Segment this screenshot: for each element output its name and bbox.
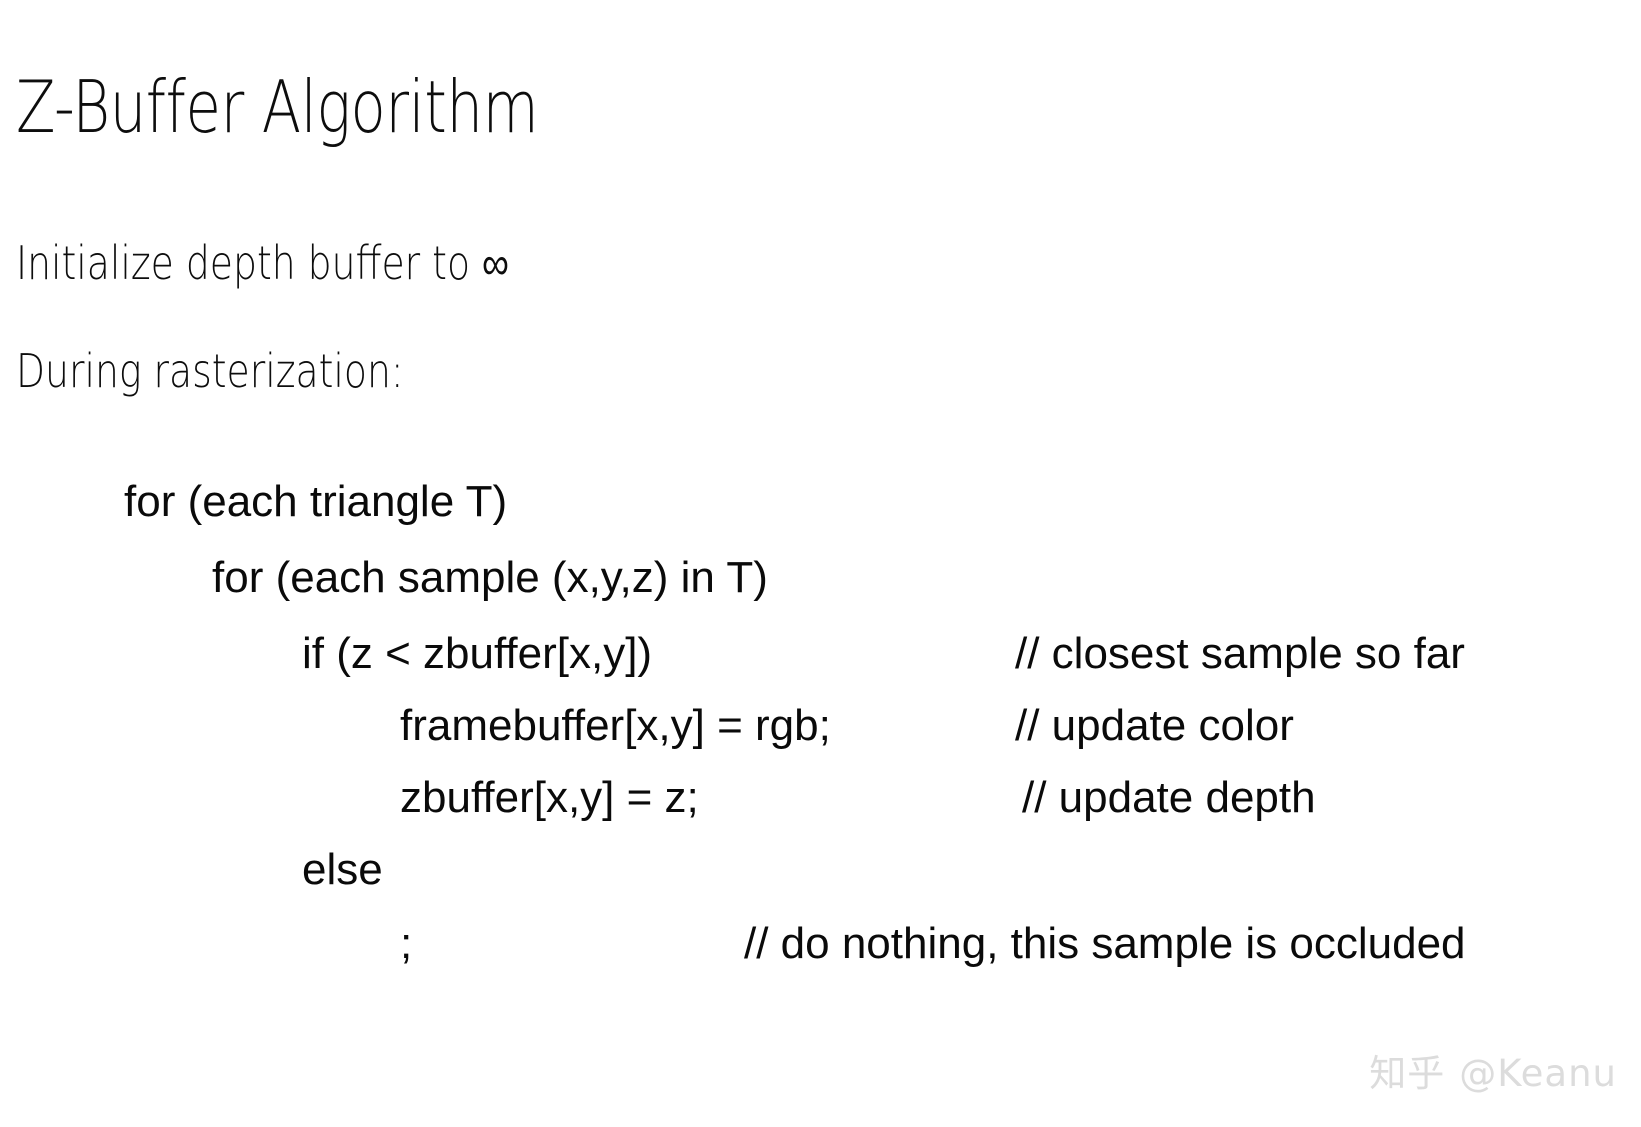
slide-canvas: Z-Buffer Algorithm Initialize depth buff… xyxy=(0,0,1641,1127)
code-line-text: if (z < zbuffer[x,y]) xyxy=(302,622,652,686)
code-line-text: else xyxy=(302,838,383,902)
code-line-text: for (each triangle T) xyxy=(124,470,507,534)
code-line-text: framebuffer[x,y] = rgb; xyxy=(400,694,831,758)
body-line-during-rasterization: During rasterization: xyxy=(16,346,404,397)
zhihu-logo-text: 知乎 xyxy=(1369,1052,1445,1095)
code-line-comment: // closest sample so far xyxy=(1015,622,1465,686)
code-line-text: zbuffer[x,y] = z; xyxy=(400,766,699,830)
watermark-handle: @Keanu xyxy=(1459,1052,1617,1095)
body-line-initialize: Initialize depth buffer to ∞ xyxy=(16,238,509,289)
code-line-text: for (each sample (x,y,z) in T) xyxy=(212,546,768,610)
code-line-comment: // do nothing, this sample is occluded xyxy=(744,912,1466,976)
code-line-comment: // update depth xyxy=(1022,766,1316,830)
watermark: 知乎@Keanu xyxy=(1369,1043,1617,1097)
code-line-text: ; xyxy=(400,912,412,976)
page-title: Z-Buffer Algorithm xyxy=(16,70,538,146)
code-line-comment: // update color xyxy=(1015,694,1294,758)
